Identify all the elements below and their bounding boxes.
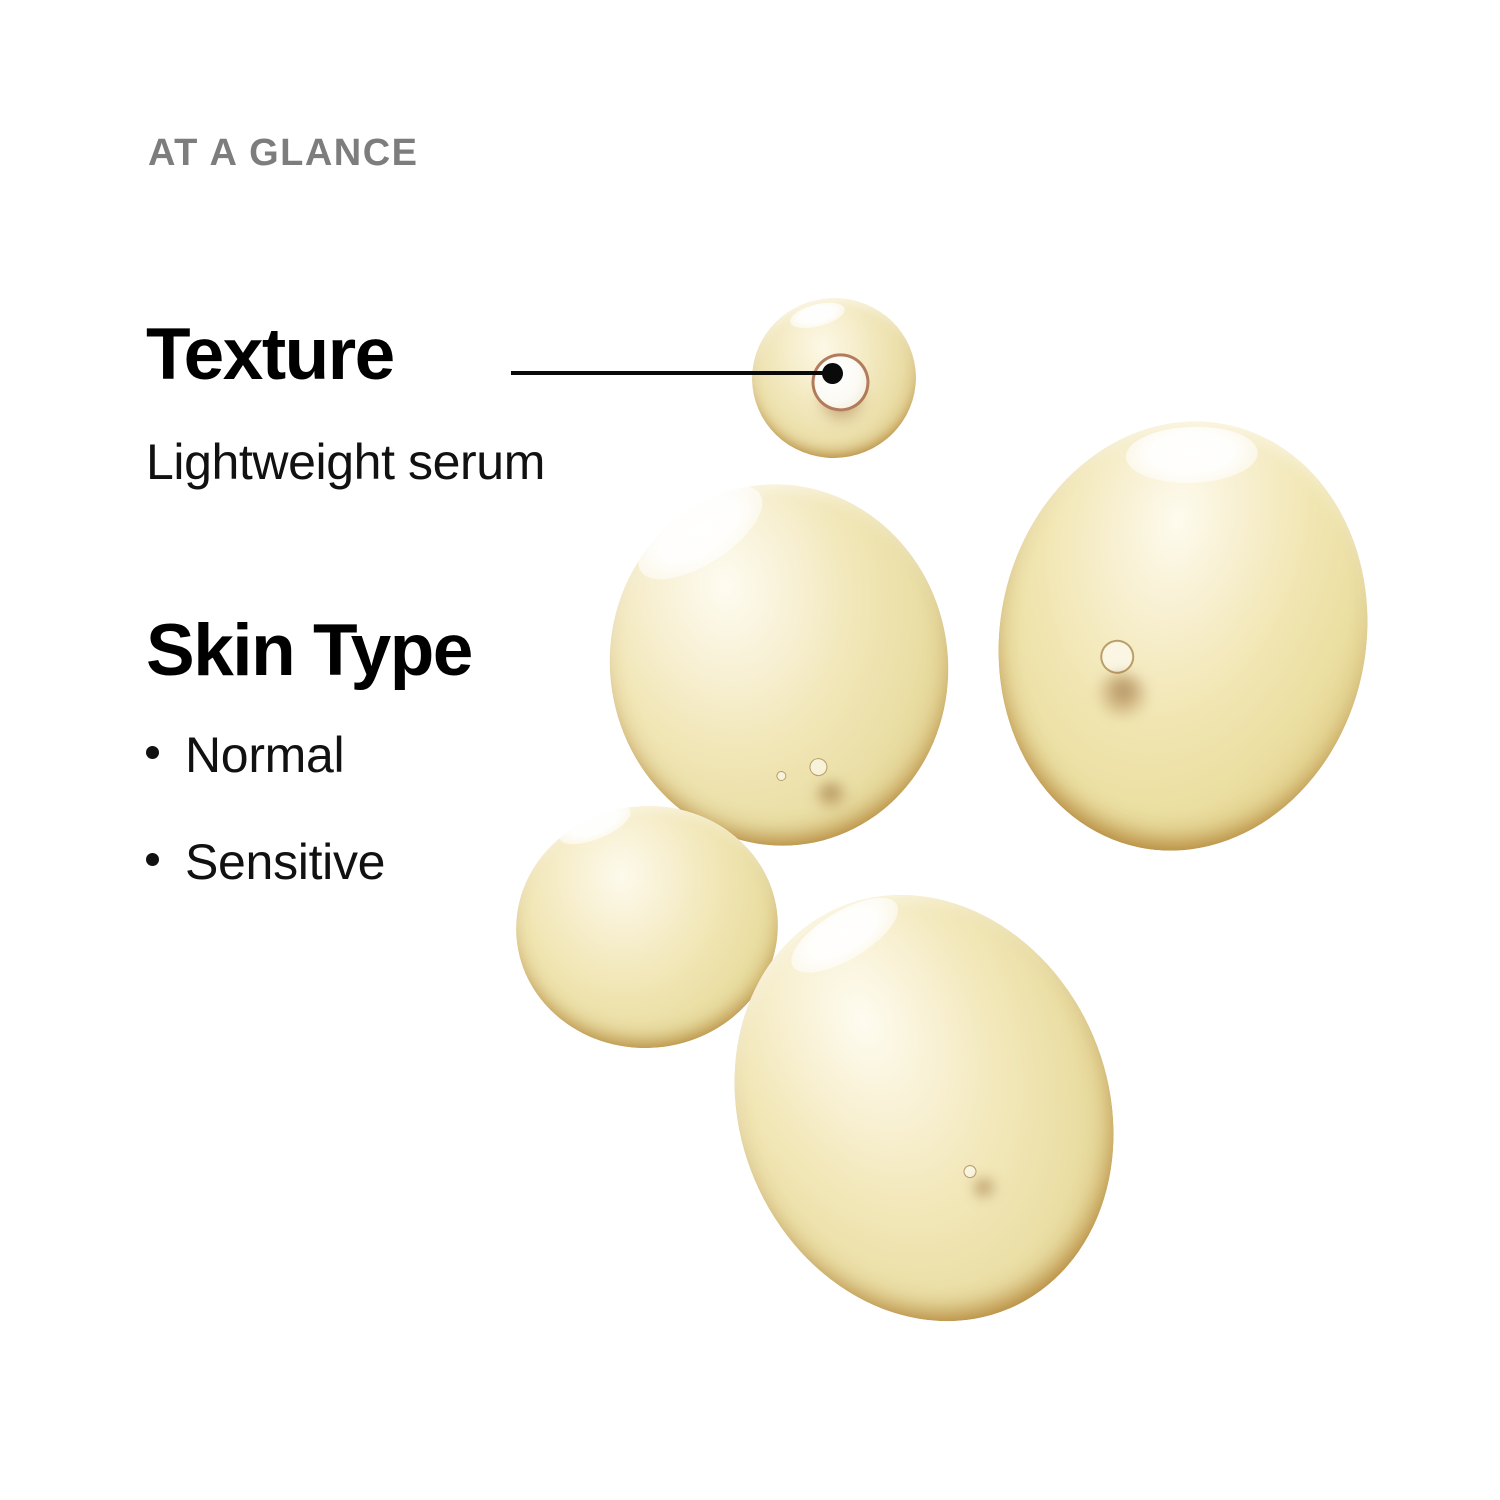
leader-endpoint-dot: [822, 363, 843, 384]
list-item: Normal: [146, 730, 385, 780]
skin-type-heading: Skin Type: [146, 614, 472, 687]
list-item: Sensitive: [146, 837, 385, 887]
texture-heading: Texture: [146, 318, 394, 391]
skin-type-list: Normal Sensitive: [146, 730, 385, 887]
section-eyebrow-label: AT A GLANCE: [148, 134, 419, 172]
leader-line: [511, 371, 827, 375]
at-a-glance-infographic: AT A GLANCE Texture Lightweight serum Sk…: [0, 0, 1500, 1500]
skin-type-item-label: Sensitive: [185, 837, 385, 887]
texture-value: Lightweight serum: [146, 437, 545, 487]
bullet-dot-icon: [146, 746, 159, 759]
skin-type-item-label: Normal: [185, 730, 344, 780]
right-large-droplet: [959, 387, 1407, 886]
bullet-dot-icon: [146, 853, 159, 866]
